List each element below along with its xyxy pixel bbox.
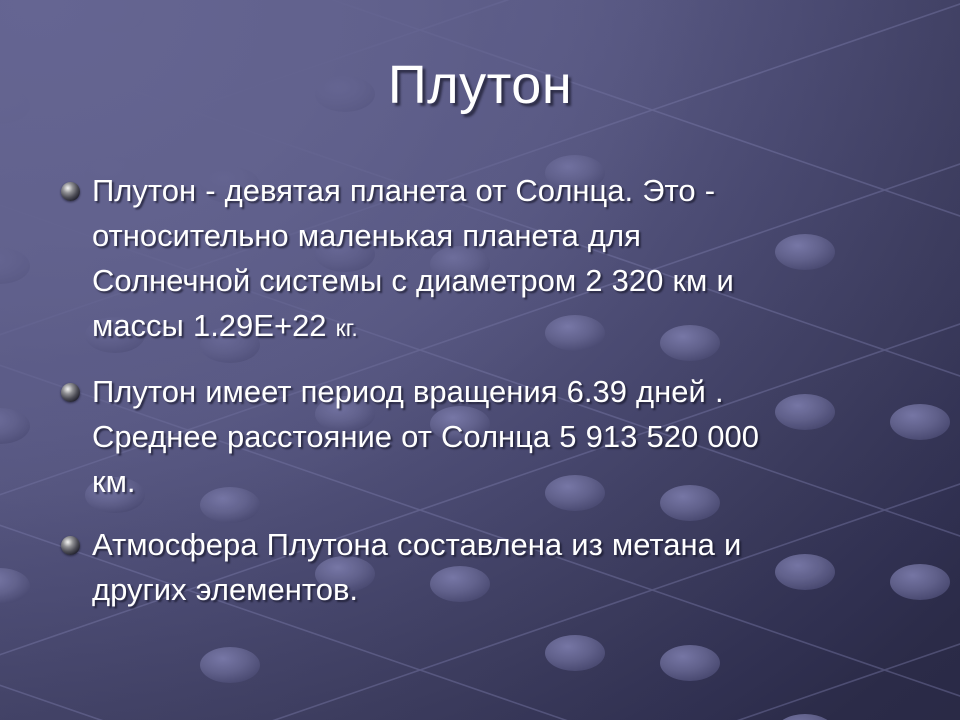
bullet-item-1: Плутон - девятая планета от Солнца. Это … (52, 168, 918, 351)
bullet-item-3: Атмосфера Плутона составлена из метана и… (52, 522, 918, 612)
bullet-line: других элементов. (92, 567, 918, 612)
bullet-line: Плутон - девятая планета от Солнца. Это … (92, 168, 918, 213)
bullet-line: Атмосфера Плутона составлена из метана и (92, 522, 918, 567)
sphere-bullet-icon (61, 383, 80, 402)
bullet-item-1-text: Плутон - девятая планета от Солнца. Это … (92, 168, 918, 351)
slide-body-content: Плутон - девятая планета от Солнца. Это … (52, 168, 918, 612)
bullet-line-with-unit: массы 1.29E+22 кг. (92, 303, 918, 351)
sphere-bullet-icon (61, 182, 80, 201)
bullet-line: Среднее расстояние от Солнца 5 913 520 0… (92, 414, 918, 459)
bullet-line: Солнечной системы с диаметром 2 320 км и (92, 258, 918, 303)
presentation-slide: Плутон Плутон - девятая планета от Солнц… (0, 0, 960, 720)
bullet-line: относительно маленькая планета для (92, 213, 918, 258)
bullet-item-2: Плутон имеет период вращения 6.39 дней .… (52, 369, 918, 504)
bullet-line: км. (92, 459, 918, 504)
mass-value: массы 1.29E+22 (92, 308, 336, 343)
bullet-line: Плутон имеет период вращения 6.39 дней . (92, 369, 918, 414)
bullet-item-2-text: Плутон имеет период вращения 6.39 дней .… (92, 369, 918, 504)
bullet-item-3-text: Атмосфера Плутона составлена из метана и… (92, 522, 918, 612)
sphere-bullet-icon (61, 536, 80, 555)
slide-title: Плутон (0, 52, 960, 118)
mass-unit: кг. (336, 315, 358, 341)
